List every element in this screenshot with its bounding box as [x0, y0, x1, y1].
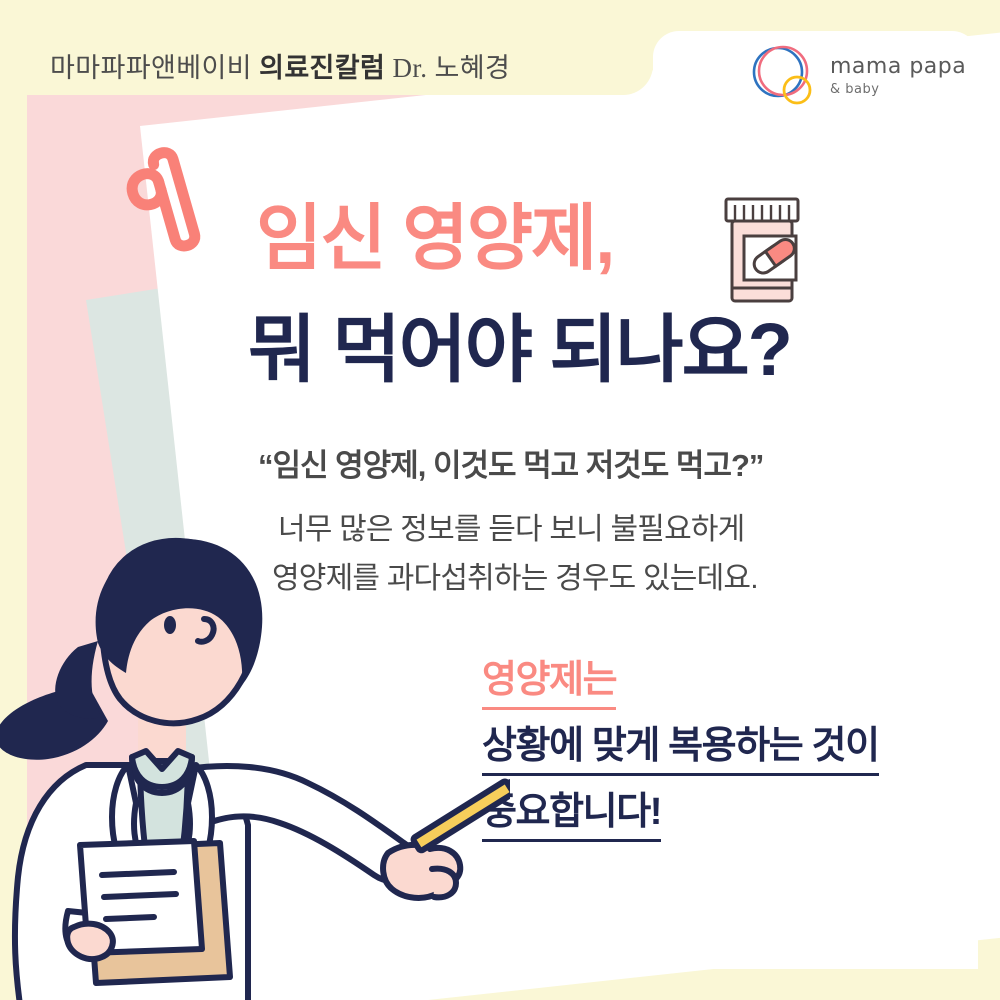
- title-line-2: 뭐 먹어야 되나요?: [248, 313, 791, 387]
- highlight-line-2: 상황에 맞게 복용하는 것이: [482, 714, 879, 776]
- header-author: Dr. 노혜경: [392, 53, 510, 83]
- header-brand-prefix: 마마파파앤베이비: [50, 53, 252, 83]
- logo-circles-icon: [748, 44, 820, 110]
- header-column-label: 의료진칼럼: [259, 53, 385, 83]
- brand-logo[interactable]: mama papa & baby: [748, 42, 968, 114]
- header-title: 마마파파앤베이비 의료진칼럼 Dr. 노혜경: [50, 46, 510, 85]
- logo-text-block: mama papa & baby: [830, 54, 966, 97]
- doctor-illustration: [0, 525, 510, 1000]
- pill-bottle-icon: [716, 196, 808, 306]
- infographic-card: 마마파파앤베이비 의료진칼럼 Dr. 노혜경 mama papa & baby …: [0, 0, 1000, 1000]
- logo-main-text: mama papa: [830, 54, 966, 79]
- quote-text: “임신 영양제, 이것도 먹고 저것도 먹고?”: [258, 440, 763, 485]
- title-line-1: 임신 영양제,: [256, 203, 613, 275]
- paperclip-icon: [104, 140, 234, 275]
- logo-sub-text: & baby: [830, 82, 966, 97]
